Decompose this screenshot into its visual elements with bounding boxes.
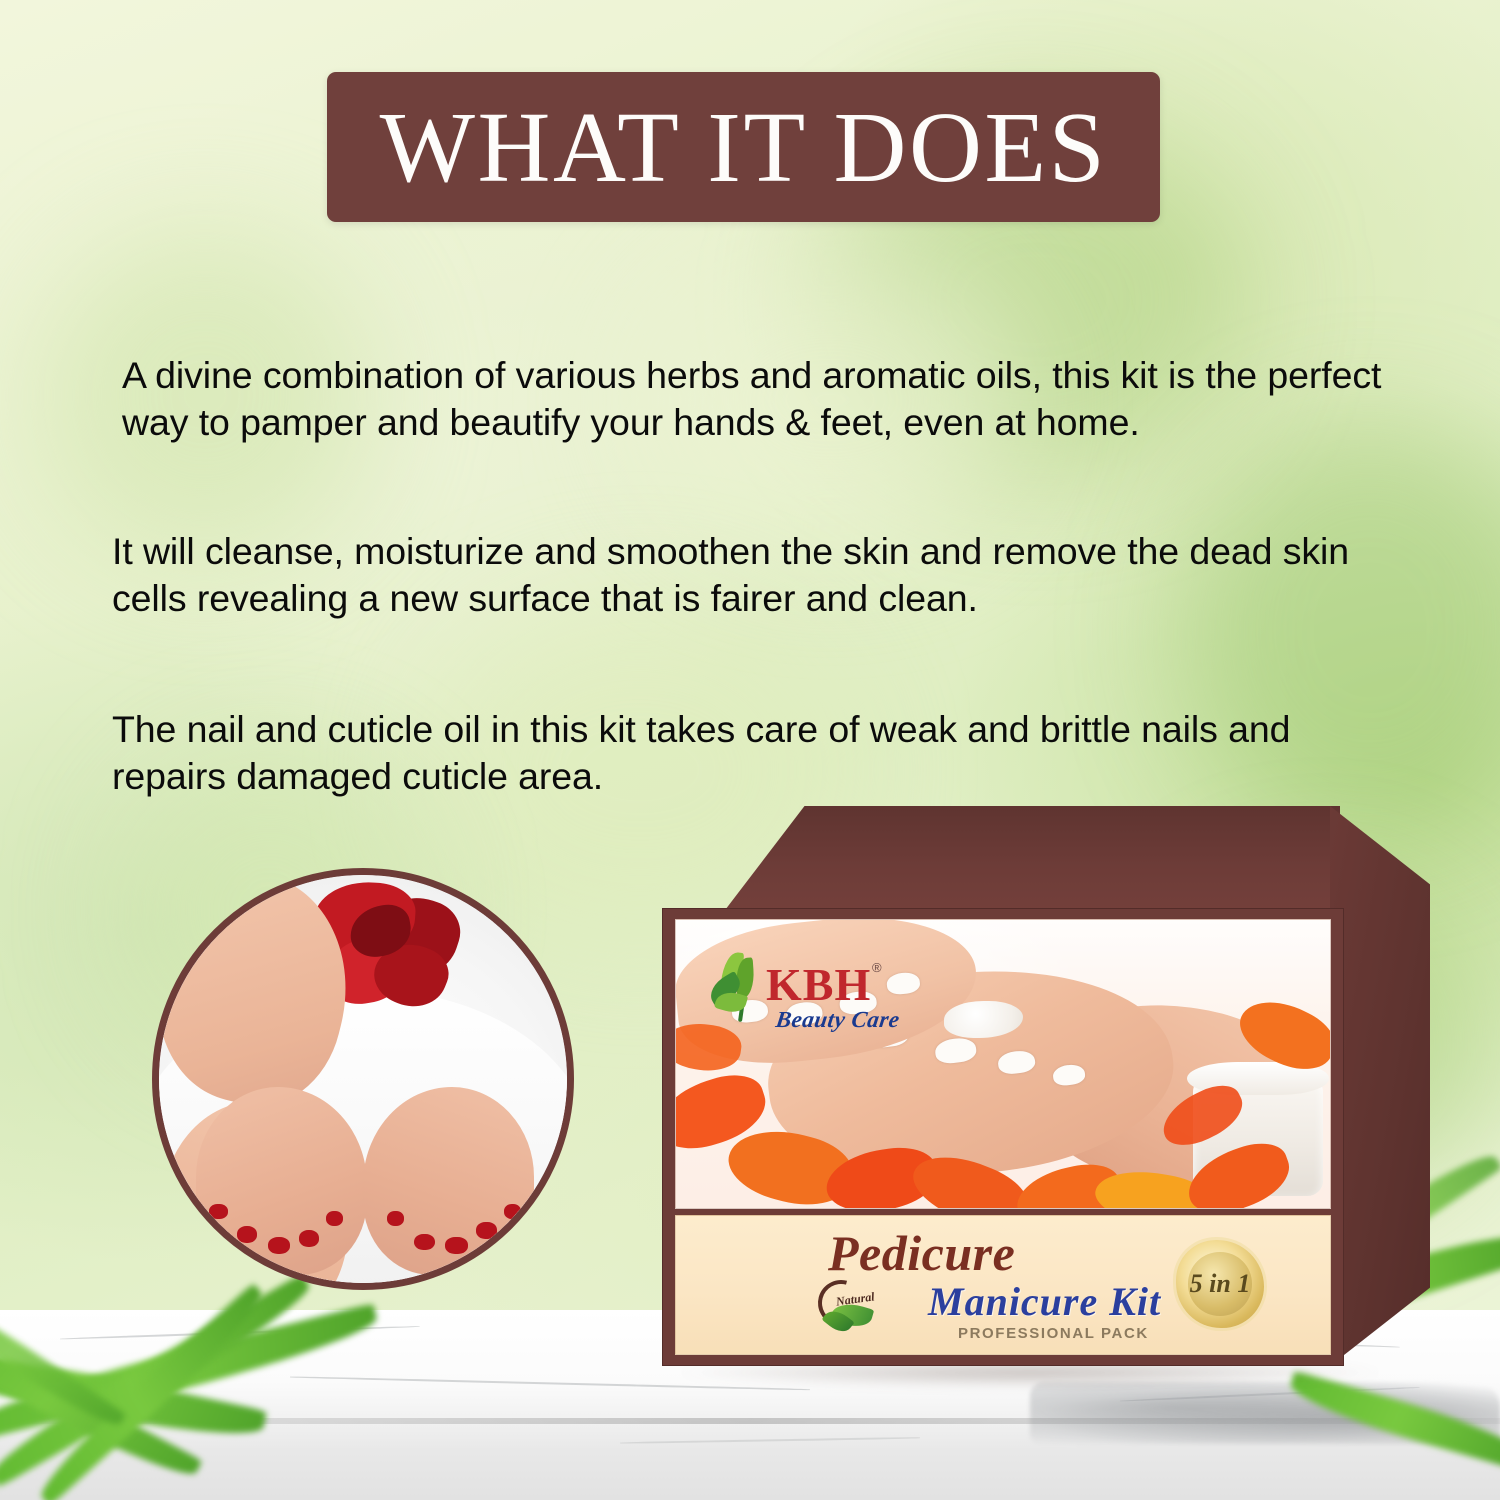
brand-name: KBH	[766, 962, 871, 1008]
toenail	[445, 1237, 467, 1254]
toenail	[387, 1211, 404, 1226]
product-box: KBH ® Beauty Care Pedicure Natural Manic…	[640, 806, 1430, 1396]
circle-photo-inner	[159, 875, 567, 1283]
toenail	[1051, 1063, 1086, 1087]
toenail	[299, 1230, 320, 1247]
box-cover-photo: KBH ® Beauty Care	[675, 919, 1331, 1209]
toenail	[934, 1036, 977, 1065]
toenail	[268, 1237, 290, 1254]
foot-right	[363, 1087, 534, 1275]
toenail	[237, 1226, 258, 1243]
label-pedicure-text: Pedicure	[828, 1228, 1015, 1278]
natural-badge-icon: Natural	[814, 1278, 890, 1336]
page-title: WHAT IT DOES	[380, 97, 1108, 198]
box-top-face	[640, 806, 1340, 916]
paragraph-1: A divine combination of various herbs an…	[122, 352, 1412, 447]
hands-and-feet-circle-photo	[152, 868, 574, 1290]
box-bottom-label: Pedicure Natural Manicure Kit PROFESSION…	[675, 1215, 1331, 1355]
label-professional-pack-text: PROFESSIONAL PACK	[958, 1326, 1149, 1341]
box-right-face	[1330, 806, 1430, 1366]
registered-trademark-icon: ®	[872, 960, 882, 975]
gold-badge-label: 5 in 1	[1176, 1240, 1264, 1328]
five-in-one-gold-badge: 5 in 1	[1176, 1240, 1264, 1328]
toenail	[476, 1222, 497, 1239]
toenail	[996, 1049, 1035, 1075]
brand-tagline: Beauty Care	[774, 1008, 901, 1031]
toenail	[209, 1204, 228, 1219]
paragraph-3: The nail and cuticle oil in this kit tak…	[112, 706, 1412, 801]
label-manicure-kit-text: Manicure Kit	[928, 1282, 1161, 1322]
box-front-face: KBH ® Beauty Care Pedicure Natural Manic…	[662, 908, 1344, 1366]
kbh-brand-logo: KBH ® Beauty Care	[704, 948, 904, 1040]
marble-vein	[620, 1437, 920, 1444]
toenail	[326, 1211, 343, 1226]
product-marketing-image: WHAT IT DOES A divine combination of var…	[0, 0, 1500, 1500]
foot-left	[196, 1087, 367, 1275]
toenail	[504, 1204, 521, 1219]
leaf-logo-icon	[704, 948, 768, 1028]
toenail	[414, 1234, 435, 1251]
header-banner: WHAT IT DOES	[327, 72, 1160, 222]
paragraph-2: It will cleanse, moisturize and smoothen…	[112, 528, 1412, 623]
